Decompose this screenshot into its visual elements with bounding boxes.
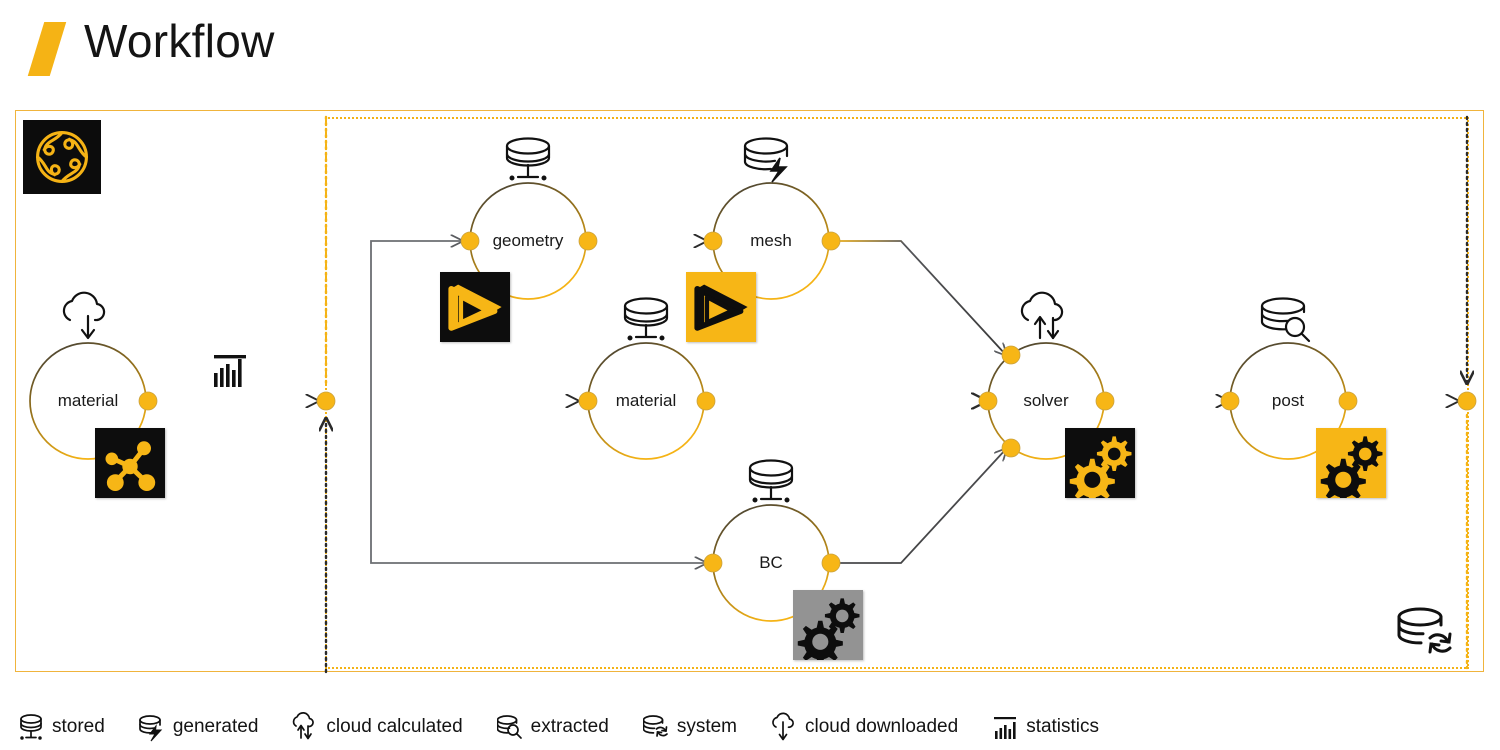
badge-prism-geometry[interactable] (440, 272, 510, 342)
statistics-icon (992, 712, 1018, 742)
generated-icon (139, 712, 165, 742)
node-label-material-in: material (58, 391, 118, 411)
knot-logo (23, 120, 101, 194)
workflow-slide: Workflow (0, 0, 1500, 750)
page-title: Workflow (84, 14, 275, 68)
gears-icon (1316, 428, 1386, 498)
cloud-calculated-icon (292, 712, 318, 742)
legend-label: cloud downloaded (805, 716, 958, 738)
cloud-downloaded-icon (771, 712, 797, 742)
node-label-bc: BC (759, 553, 783, 573)
node-label-post: post (1272, 391, 1304, 411)
legend: stored generated (18, 712, 1133, 742)
badge-gears-solver[interactable] (1065, 428, 1135, 498)
legend-label: statistics (1026, 716, 1099, 738)
legend-label: system (677, 716, 737, 738)
node-label-material-mid: material (616, 391, 676, 411)
legend-item-system: system (643, 712, 737, 742)
legend-label: cloud calculated (326, 716, 462, 738)
legend-label: extracted (531, 716, 609, 738)
legend-item-cloud-downloaded: cloud downloaded (771, 712, 958, 742)
gears-icon (793, 590, 863, 660)
extracted-icon (497, 712, 523, 742)
legend-item-extracted: extracted (497, 712, 609, 742)
legend-label: generated (173, 716, 259, 738)
knot-logo-icon (23, 120, 101, 194)
title-accent-slash (28, 22, 67, 76)
node-label-solver: solver (1023, 391, 1068, 411)
slide-header: Workflow (0, 0, 1500, 100)
legend-item-statistics: statistics (992, 712, 1099, 742)
system-icon (1396, 604, 1456, 662)
node-label-mesh: mesh (750, 231, 792, 251)
node-label-geometry: geometry (493, 231, 564, 251)
legend-item-stored: stored (18, 712, 105, 742)
stored-icon (18, 712, 44, 742)
molecule-icon (95, 428, 165, 498)
badge-gears-bc[interactable] (793, 590, 863, 660)
badge-molecule-material-in[interactable] (95, 428, 165, 498)
legend-item-cloud-calculated: cloud calculated (292, 712, 462, 742)
legend-item-generated: generated (139, 712, 259, 742)
badge-prism-mesh[interactable] (686, 272, 756, 342)
prism-icon (440, 272, 510, 342)
gears-icon (1065, 428, 1135, 498)
legend-label: stored (52, 716, 105, 738)
prism-icon (686, 272, 756, 342)
badge-gears-post[interactable] (1316, 428, 1386, 498)
system-icon (643, 712, 669, 742)
